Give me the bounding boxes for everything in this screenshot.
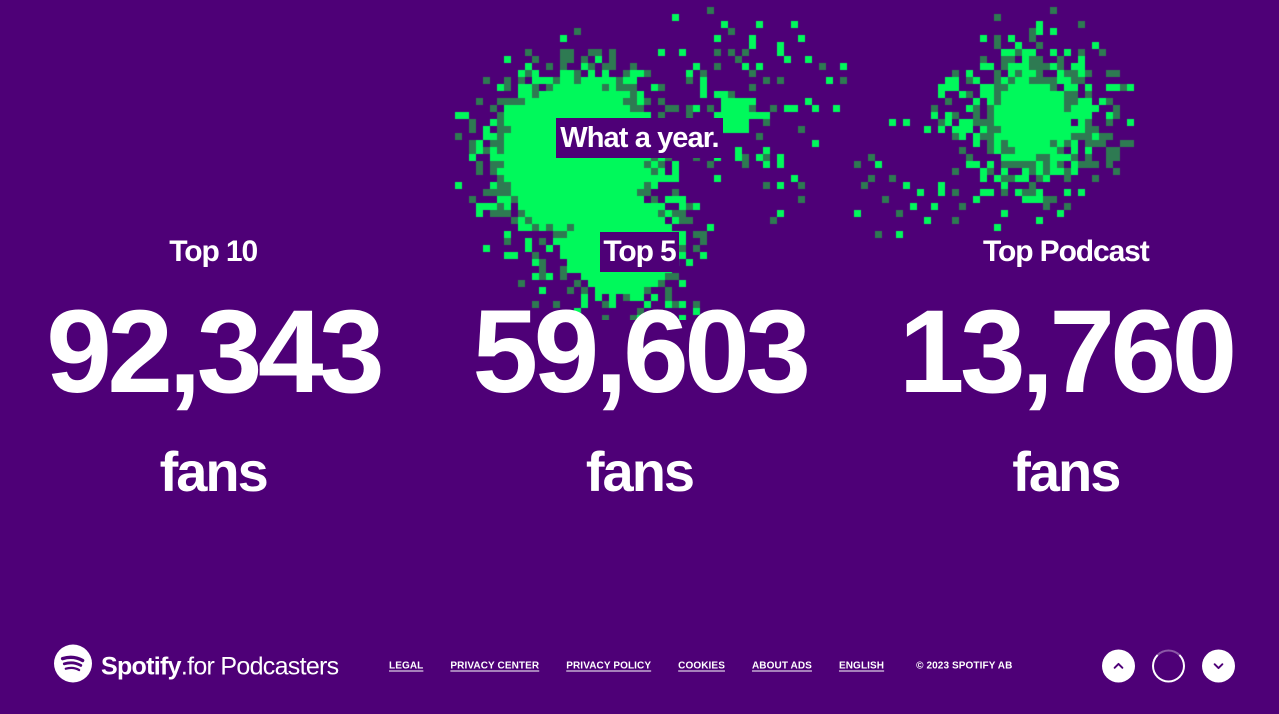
chevron-down-icon <box>1211 659 1226 674</box>
stat-unit: fans <box>853 440 1279 504</box>
loading-spinner-icon[interactable] <box>1152 650 1185 683</box>
footer-link-language[interactable]: ENGLISH <box>839 661 884 672</box>
footer-link-cookies[interactable]: COOKIES <box>678 661 725 672</box>
stat-value: 59,603 <box>426 286 852 418</box>
brand-suffix: .for Podcasters <box>181 652 339 680</box>
stat-card-top-podcast: Top Podcast 13,760 fans <box>853 232 1279 504</box>
stat-card-top-10: Top 10 92,343 fans <box>0 232 426 504</box>
brand-name: Spotify <box>101 652 181 680</box>
scroll-up-button[interactable] <box>1102 650 1135 683</box>
spotify-logo-icon <box>54 645 92 688</box>
brand-wordmark: Spotify.for Podcasters <box>101 652 338 680</box>
stat-card-top-5: Top 5 59,603 fans <box>426 232 852 504</box>
hero-headline: What a year. <box>556 118 722 158</box>
stat-label: Top 5 <box>600 232 678 272</box>
footer-link-privacy-policy[interactable]: PRIVACY POLICY <box>566 661 651 672</box>
slide-navigation <box>1102 650 1235 683</box>
footer-link-about-ads[interactable]: ABOUT ADS <box>752 661 812 672</box>
stat-value: 13,760 <box>853 286 1279 418</box>
footer-link-legal[interactable]: LEGAL <box>389 661 423 672</box>
stats-row: Top 10 92,343 fans Top 5 59,603 fans Top… <box>0 232 1279 504</box>
footer-links: LEGAL PRIVACY CENTER PRIVACY POLICY COOK… <box>389 661 1012 672</box>
stat-label: Top Podcast <box>980 232 1152 272</box>
chevron-up-icon <box>1111 659 1126 674</box>
stat-unit: fans <box>426 440 852 504</box>
scroll-down-button[interactable] <box>1202 650 1235 683</box>
brand-lockup[interactable]: Spotify.for Podcasters <box>54 645 338 688</box>
page-footer: Spotify.for Podcasters LEGAL PRIVACY CEN… <box>0 618 1279 714</box>
stat-unit: fans <box>0 440 426 504</box>
stat-value: 92,343 <box>0 286 426 418</box>
footer-link-privacy-center[interactable]: PRIVACY CENTER <box>450 661 539 672</box>
hero-headline-container: What a year. <box>0 118 1279 158</box>
copyright-notice: © 2023 SPOTIFY AB <box>916 661 1012 672</box>
stat-label: Top 10 <box>166 232 260 272</box>
